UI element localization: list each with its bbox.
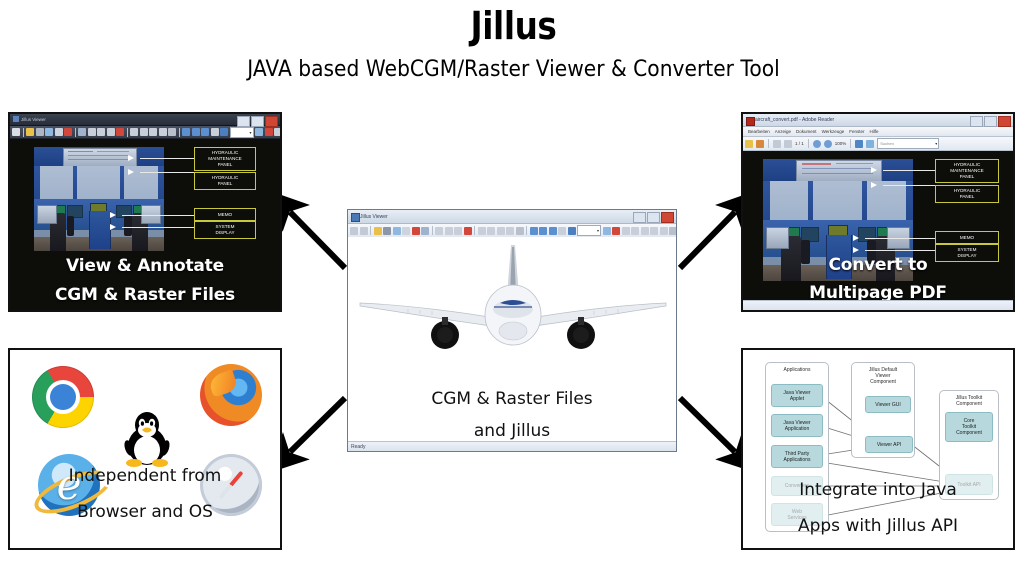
group-label: Jillus Toolkit Component bbox=[940, 395, 998, 407]
caption-line-1: CGM & Raster Files bbox=[348, 389, 676, 409]
delete-icon[interactable] bbox=[64, 128, 72, 136]
toolbar-separator bbox=[75, 128, 76, 137]
settings-icon[interactable] bbox=[516, 227, 524, 235]
paste-icon[interactable] bbox=[402, 227, 410, 235]
caption-line-2: CGM & Raster Files bbox=[10, 285, 280, 305]
maximize-button[interactable] bbox=[647, 212, 660, 223]
create-pdf-icon[interactable] bbox=[756, 140, 764, 148]
pen-icon[interactable] bbox=[265, 128, 273, 136]
node-viewer-gui[interactable]: Viewer GUI bbox=[865, 396, 911, 413]
adobe-reader-icon bbox=[746, 117, 755, 126]
line-icon[interactable] bbox=[622, 227, 630, 235]
zoom-in-icon[interactable] bbox=[824, 140, 832, 148]
arrow-to-bottom-right bbox=[680, 398, 735, 452]
cockpit-windshield bbox=[763, 181, 913, 222]
panel-icon[interactable] bbox=[201, 128, 209, 136]
architecture-diagram[interactable]: Applications Jillus Default Viewer Compo… bbox=[743, 350, 1013, 548]
window-divider bbox=[73, 166, 77, 203]
page-title: Jillus bbox=[72, 4, 955, 48]
overhead-row bbox=[802, 173, 873, 174]
close-button[interactable] bbox=[265, 116, 278, 127]
viewer-canvas[interactable]: HYDRAULIC MAINTENANCE PANEL HYDRAULIC PA… bbox=[10, 139, 280, 312]
leader-line bbox=[140, 158, 194, 159]
leader-line bbox=[122, 215, 194, 216]
menu-fenster[interactable]: Fenster bbox=[849, 129, 864, 134]
play-icon[interactable] bbox=[12, 128, 20, 136]
node-core-toolkit-component[interactable]: Core Toolkit Component bbox=[945, 412, 993, 442]
poster-stage: Jillus JAVA based WebCGM/Raster Viewer &… bbox=[0, 0, 1027, 566]
open-file-icon[interactable] bbox=[745, 140, 753, 148]
airplane-graphic bbox=[348, 243, 677, 373]
arrow-to-top-right bbox=[680, 212, 735, 268]
overhead-panel bbox=[63, 148, 138, 167]
fit-page-icon[interactable] bbox=[140, 128, 148, 136]
panel-independent-browser-os[interactable]: Independent from Browser and OS bbox=[8, 348, 282, 550]
callout-hydraulic-maintenance-panel[interactable]: HYDRAULIC MAINTENANCE PANEL bbox=[194, 147, 256, 171]
rotate-left-icon[interactable] bbox=[497, 227, 505, 235]
status-text: Ready bbox=[351, 444, 365, 450]
annotation-pointer bbox=[871, 182, 877, 188]
polygon-icon[interactable] bbox=[641, 227, 649, 235]
overhead-row bbox=[68, 155, 129, 156]
caption-line-1: Convert to bbox=[743, 255, 1013, 275]
copy-icon[interactable] bbox=[393, 227, 401, 235]
window-title: Jillus Viewer bbox=[21, 117, 46, 122]
panel-view-annotate[interactable]: Jillus Viewer bbox=[8, 112, 282, 312]
toolbar-separator bbox=[127, 128, 128, 137]
node-viewer-api[interactable]: Viewer API bbox=[865, 436, 913, 453]
open-file-icon[interactable] bbox=[374, 227, 382, 235]
chevron-down-icon: ▾ bbox=[935, 141, 937, 146]
overhead-row bbox=[836, 163, 873, 164]
node-third-party-applications[interactable]: Third Party Applications bbox=[771, 445, 823, 468]
app-icon bbox=[13, 116, 19, 122]
overhead-panel bbox=[796, 160, 882, 182]
overhead-row bbox=[68, 151, 93, 152]
zoom-in-icon[interactable] bbox=[445, 227, 453, 235]
overhead-row bbox=[97, 151, 129, 152]
pan-icon[interactable] bbox=[130, 128, 138, 136]
annotation-pointer bbox=[853, 235, 859, 241]
search-placeholder: Suchen bbox=[880, 141, 894, 146]
control-yoke bbox=[67, 216, 75, 237]
caption-line-1: View & Annotate bbox=[10, 256, 280, 276]
panel-icon[interactable] bbox=[549, 227, 557, 235]
center-pedestal bbox=[89, 211, 112, 248]
callout-hydraulic-panel[interactable]: HYDRAULIC PANEL bbox=[194, 172, 256, 190]
callout-memo[interactable]: MEMO bbox=[194, 208, 256, 221]
chrome-logo bbox=[32, 366, 94, 428]
line-icon[interactable] bbox=[274, 128, 282, 136]
tux-linux-logo bbox=[120, 406, 174, 468]
page-indicator: 1 / 1 bbox=[795, 141, 804, 146]
annotate-icon[interactable] bbox=[255, 128, 263, 136]
leader-line bbox=[865, 250, 935, 251]
node-java-viewer-applet[interactable]: Java Viewer Applet bbox=[771, 384, 823, 407]
panel-convert-pdf[interactable]: aircraft_convert.pdf - Adobe Reader Bear… bbox=[741, 112, 1015, 312]
layer-select[interactable]: ▾ bbox=[577, 225, 601, 236]
rotate-right-icon[interactable] bbox=[159, 128, 167, 136]
toolbar-separator bbox=[850, 139, 851, 148]
callout-hydraulic-maintenance-panel[interactable]: HYDRAULIC MAINTENANCE PANEL bbox=[935, 159, 999, 183]
print-icon[interactable] bbox=[383, 227, 391, 235]
grid-icon[interactable] bbox=[192, 128, 200, 136]
window-title: aircraft_convert.pdf - Adobe Reader bbox=[755, 117, 834, 123]
viewer-titlebar: Jillus Viewer bbox=[10, 114, 280, 126]
minimize-button[interactable] bbox=[970, 116, 983, 127]
caption-line-2: Apps with Jillus API bbox=[743, 516, 1013, 536]
measure-icon[interactable] bbox=[211, 128, 219, 136]
rectangle-icon[interactable] bbox=[631, 227, 639, 235]
toolbar-separator bbox=[808, 139, 809, 148]
redo-icon[interactable] bbox=[660, 227, 668, 235]
window-divider bbox=[862, 181, 867, 225]
window-controls[interactable] bbox=[633, 212, 674, 223]
callout-hydraulic-panel[interactable]: HYDRAULIC PANEL bbox=[935, 185, 999, 203]
pointer-icon[interactable] bbox=[88, 128, 96, 136]
close-button[interactable] bbox=[998, 116, 1011, 127]
overhead-row bbox=[68, 159, 129, 160]
panel-integrate-java-api[interactable]: Applications Jillus Default Viewer Compo… bbox=[741, 348, 1015, 550]
group-label: Applications bbox=[766, 367, 828, 373]
annotation-pointer bbox=[128, 169, 134, 175]
window-title: Jillus Viewer bbox=[360, 214, 388, 220]
select-tool-icon[interactable] bbox=[78, 128, 86, 136]
highlight-icon[interactable] bbox=[464, 227, 472, 235]
maximize-button[interactable] bbox=[251, 116, 264, 127]
window-pillar bbox=[34, 166, 40, 203]
viewer-toolbar[interactable]: ▾ bbox=[348, 224, 676, 238]
delete-icon[interactable] bbox=[412, 227, 420, 235]
rotate-left-icon[interactable] bbox=[149, 128, 157, 136]
reader-titlebar: aircraft_convert.pdf - Adobe Reader bbox=[743, 114, 1013, 127]
leader-line bbox=[140, 172, 194, 173]
sign-icon[interactable] bbox=[866, 140, 874, 148]
toolbar-separator bbox=[23, 128, 24, 137]
layer-select[interactable]: ▾ bbox=[230, 127, 254, 138]
window-controls[interactable] bbox=[970, 116, 1011, 127]
zoom-out-icon[interactable] bbox=[454, 227, 462, 235]
chevron-down-icon: ▾ bbox=[597, 228, 599, 233]
select-tool-icon[interactable] bbox=[421, 227, 429, 235]
pan-icon[interactable] bbox=[478, 227, 486, 235]
menu-bearbeiten[interactable]: Bearbeiten bbox=[748, 129, 770, 134]
zoom-level[interactable]: 100% bbox=[835, 141, 847, 146]
leader-line bbox=[883, 170, 935, 171]
menu-dokument[interactable]: Dokument bbox=[796, 129, 817, 134]
group-label: Jillus Default Viewer Component bbox=[852, 367, 914, 385]
viewer-toolbar[interactable]: ▾ bbox=[10, 126, 280, 139]
settings-icon[interactable] bbox=[168, 128, 176, 136]
toolbar-separator bbox=[768, 139, 769, 148]
measure-icon[interactable] bbox=[558, 227, 566, 235]
pen-icon[interactable] bbox=[612, 227, 620, 235]
app-icon bbox=[351, 213, 360, 222]
annotation-pointer bbox=[871, 167, 877, 173]
page-subtitle: JAVA based WebCGM/Raster Viewer & Conver… bbox=[41, 57, 986, 82]
menu-hilfe[interactable]: Hilfe bbox=[870, 129, 879, 134]
window-controls[interactable] bbox=[237, 116, 278, 127]
next-page-icon[interactable] bbox=[784, 140, 792, 148]
leader-line bbox=[865, 238, 935, 239]
caption-line-2: Browser and OS bbox=[10, 502, 280, 522]
reader-menubar[interactable]: Bearbeiten Anzeige Dokument Werkzeuge Fe… bbox=[743, 127, 1013, 137]
minimize-button[interactable] bbox=[633, 212, 646, 223]
user-icon[interactable] bbox=[220, 128, 228, 136]
zoom-out-icon[interactable] bbox=[107, 128, 115, 136]
copy-icon[interactable] bbox=[45, 128, 53, 136]
annotation-pointer bbox=[110, 224, 116, 230]
notes-icon[interactable] bbox=[669, 227, 677, 235]
previous-page-icon[interactable] bbox=[773, 140, 781, 148]
reader-toolbar[interactable]: 1 / 1 100% Suchen ▾ bbox=[743, 137, 1013, 151]
next-icon[interactable] bbox=[360, 227, 368, 235]
toolbar-separator bbox=[179, 128, 180, 137]
leader-line bbox=[883, 185, 935, 186]
previous-icon[interactable] bbox=[350, 227, 358, 235]
search-input[interactable]: Suchen ▾ bbox=[877, 138, 939, 149]
pdf-page-canvas[interactable]: HYDRAULIC MAINTENANCE PANEL HYDRAULIC PA… bbox=[743, 151, 1013, 307]
reader-statusbar bbox=[743, 300, 1013, 310]
save-icon[interactable] bbox=[855, 140, 863, 148]
node-java-viewer-application[interactable]: Java Viewer Application bbox=[771, 414, 823, 437]
overhead-row bbox=[802, 168, 873, 169]
leader-line bbox=[122, 227, 194, 228]
close-button[interactable] bbox=[661, 212, 674, 223]
toolbar-separator bbox=[526, 226, 527, 235]
cockpit-image bbox=[34, 147, 164, 251]
layers-icon[interactable] bbox=[182, 128, 190, 136]
zoom-out-icon[interactable] bbox=[813, 140, 821, 148]
open-file-icon[interactable] bbox=[26, 128, 34, 136]
minimize-button[interactable] bbox=[237, 116, 250, 127]
rotate-right-icon[interactable] bbox=[506, 227, 514, 235]
viewer-titlebar: Jillus Viewer bbox=[348, 210, 676, 224]
arrow-to-top-left bbox=[290, 212, 345, 268]
annotation-pointer bbox=[110, 212, 116, 218]
side-panel bbox=[37, 205, 57, 224]
pointer-icon[interactable] bbox=[435, 227, 443, 235]
firefox-logo bbox=[200, 364, 262, 426]
arrow-to-bottom-left bbox=[290, 398, 345, 452]
annotation-pointer bbox=[853, 247, 859, 253]
menu-werkzeuge[interactable]: Werkzeuge bbox=[822, 129, 845, 134]
callout-memo[interactable]: MEMO bbox=[935, 231, 999, 244]
highlight-icon[interactable] bbox=[116, 128, 124, 136]
callout-system-display[interactable]: SYSTEM DISPLAY bbox=[194, 221, 256, 239]
layers-icon[interactable] bbox=[530, 227, 538, 235]
undo-icon[interactable] bbox=[650, 227, 658, 235]
window-divider bbox=[808, 181, 813, 225]
paste-icon[interactable] bbox=[55, 128, 63, 136]
maximize-button[interactable] bbox=[984, 116, 997, 127]
viewer-statusbar: Ready bbox=[348, 441, 676, 451]
fit-page-icon[interactable] bbox=[487, 227, 495, 235]
chevron-down-icon: ▾ bbox=[249, 130, 251, 135]
window-pillar bbox=[906, 181, 913, 225]
annotate-icon[interactable] bbox=[603, 227, 611, 235]
toolbar-separator bbox=[370, 226, 371, 235]
toolbar-separator bbox=[474, 226, 475, 235]
caption-line-1: Independent from bbox=[10, 466, 280, 486]
zoom-in-icon[interactable] bbox=[97, 128, 105, 136]
annotation-pointer bbox=[128, 155, 134, 161]
panel-jillus-viewer[interactable]: Jillus Viewer bbox=[347, 209, 677, 452]
menu-anzeige[interactable]: Anzeige bbox=[775, 129, 791, 134]
caption-line-2: and Jillus bbox=[348, 421, 676, 441]
overhead-row bbox=[802, 163, 831, 164]
viewer-canvas[interactable]: CGM & Raster Files and Jillus bbox=[348, 237, 676, 441]
window-divider bbox=[120, 166, 124, 203]
toolbar-separator bbox=[432, 226, 433, 235]
side-panel bbox=[766, 227, 789, 249]
window-pillar bbox=[763, 181, 770, 225]
user-icon[interactable] bbox=[568, 227, 576, 235]
caption-line-1: Integrate into Java bbox=[743, 480, 1013, 500]
grid-icon[interactable] bbox=[539, 227, 547, 235]
print-icon[interactable] bbox=[36, 128, 44, 136]
